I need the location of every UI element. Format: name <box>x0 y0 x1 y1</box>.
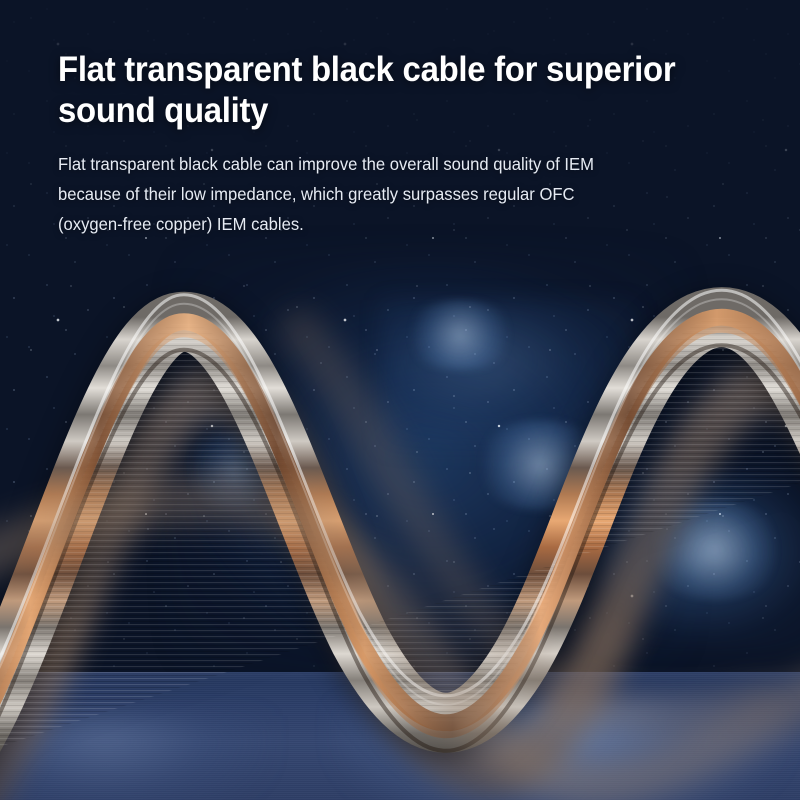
headline-line-2: sound quality <box>58 91 268 130</box>
product-feature-banner: Flat transparent black cable for superio… <box>0 0 800 800</box>
body-line-2: because of their low impedance, which gr… <box>58 179 676 209</box>
page-title: Flat transparent black cable for superio… <box>58 50 707 131</box>
body-paragraph: Flat transparent black cable can improve… <box>58 149 676 239</box>
copy-block: Flat transparent black cable for superio… <box>58 50 748 239</box>
headline-line-1: Flat transparent black cable for superio… <box>58 50 675 89</box>
body-line-1: Flat transparent black cable can improve… <box>58 149 676 179</box>
body-line-3: (oxygen-free copper) IEM cables. <box>58 209 676 239</box>
